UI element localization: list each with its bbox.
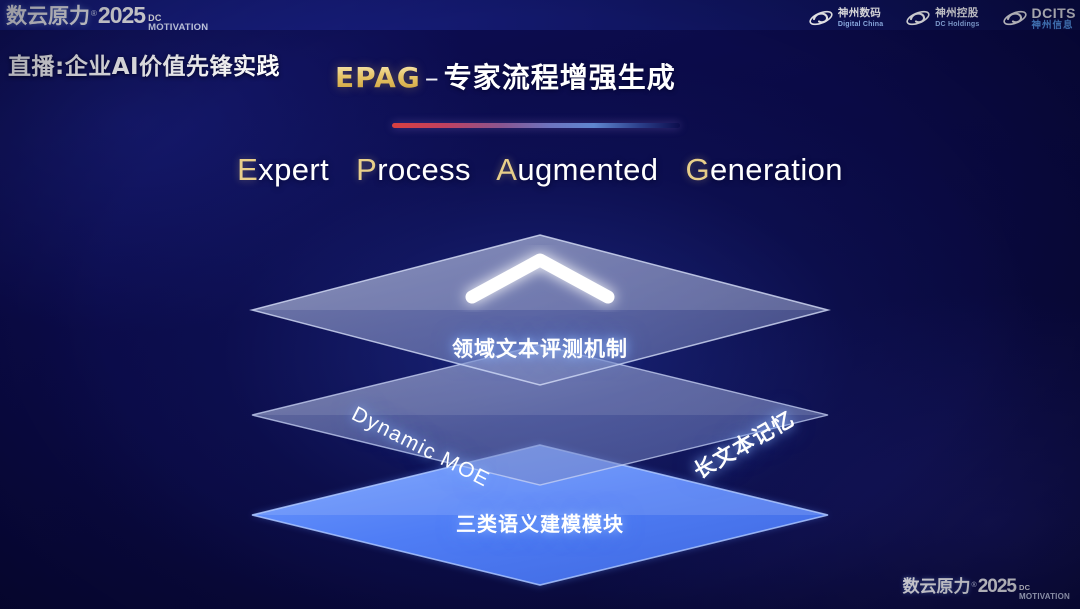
watermark-logo-dcm: DC MOTIVATION — [1019, 583, 1070, 601]
expansion-space — [480, 152, 489, 187]
expansion-word-augmented: Augmented — [496, 152, 658, 187]
live-subtitle: 直播:企业AI价值先锋实践 — [8, 47, 280, 81]
expansion-space — [338, 152, 347, 187]
watermark-logo-cn: 数云原力 — [903, 573, 971, 601]
expansion-rest: eneration — [710, 152, 843, 187]
footer-watermark-logo: 数云原力 ® 2025 DC MOTIVATION — [903, 573, 1070, 603]
partner-name-en: DCITS — [1032, 6, 1077, 20]
watermark-logo-year: 2025 — [978, 573, 1016, 601]
expansion-space — [667, 152, 676, 187]
event-logo: 数云原力 ® 2025 DC MOTIVATION — [6, 1, 208, 29]
watermark-logo-motivation: MOTIVATION — [1019, 592, 1070, 601]
layered-stack-diagram: 领域文本评测机制 Dynamic MOE 长文本记忆 三类语义建模模块 — [240, 215, 840, 565]
watermark-logo-dc: DC — [1019, 583, 1070, 592]
registered-mark: ® — [91, 9, 97, 19]
event-logo-cn: 数云原力 — [6, 2, 90, 30]
layer-label-bottom: 三类语义建模模块 — [240, 508, 840, 537]
partner-name-cn: 神州信息 — [1032, 21, 1077, 31]
partner-text: 神州控股 DC Holdings — [935, 8, 979, 28]
partner-name-cn: 神州控股 — [935, 8, 979, 19]
title-chinese: 专家流程增强生成 — [444, 61, 676, 94]
title-dash: – — [421, 61, 444, 94]
partner-logo-dc-holdings: 神州控股 DC Holdings — [905, 8, 979, 28]
expansion-word-generation: Generation — [686, 152, 843, 187]
partner-name-en: DC Holdings — [935, 21, 979, 28]
swirl-logo-icon — [808, 8, 834, 28]
expansion-cap: E — [237, 152, 258, 187]
partner-logo-dcits: DCITS 神州信息 — [1002, 6, 1077, 31]
expansion-cap: P — [356, 152, 377, 187]
expansion-cap: G — [686, 152, 711, 187]
expansion-rest: xpert — [258, 152, 329, 187]
layer-label-top: 领域文本评测机制 — [240, 333, 840, 363]
acronym-expansion: Expert Process Augmented Generation — [0, 152, 1080, 188]
event-logo-dcm: DC MOTIVATION — [148, 14, 208, 32]
partner-name-en: Digital China — [838, 21, 883, 28]
partner-name-cn: 神州数码 — [838, 8, 883, 19]
title-divider — [392, 123, 680, 128]
slide-canvas: 数云原力 ® 2025 DC MOTIVATION 直播:企业AI价值先锋实践 … — [0, 0, 1080, 609]
event-logo-year: 2025 — [98, 1, 145, 29]
partner-logo-digital-china: 神州数码 Digital China — [808, 8, 883, 28]
title-acronym: EPAG — [335, 61, 421, 94]
page-title: EPAG–专家流程增强生成 — [335, 56, 676, 96]
swirl-logo-icon — [1002, 8, 1028, 28]
expansion-cap: A — [496, 152, 517, 187]
swirl-logo-icon — [905, 8, 931, 28]
expansion-word-expert: Expert — [237, 152, 329, 187]
expansion-word-process: Process — [356, 152, 471, 187]
partner-logo-row: 神州数码 Digital China 神州控股 DC Holdings DCIT… — [808, 3, 1076, 33]
watermark-registered-mark: ® — [972, 581, 977, 591]
expansion-rest: rocess — [377, 152, 471, 187]
partner-text: DCITS 神州信息 — [1032, 6, 1077, 31]
partner-text: 神州数码 Digital China — [838, 8, 883, 28]
expansion-rest: ugmented — [517, 152, 658, 187]
event-logo-motivation: MOTIVATION — [148, 23, 208, 32]
